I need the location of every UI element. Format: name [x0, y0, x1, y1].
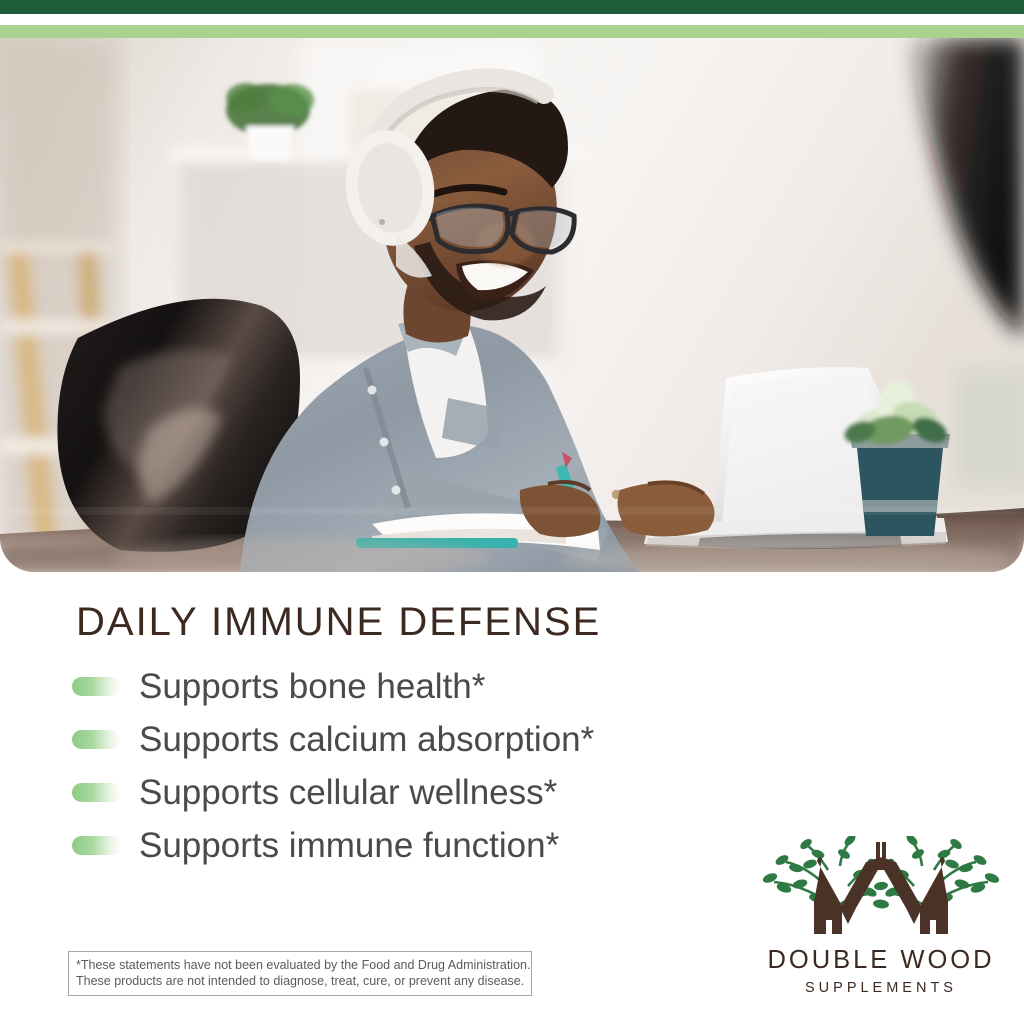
benefit-label: Supports immune function* — [139, 826, 559, 866]
disclaimer-line-1: *These statements have not been evaluate… — [76, 957, 524, 973]
list-item: Supports bone health* — [72, 660, 772, 713]
list-item: Supports calcium absorption* — [72, 713, 772, 766]
fda-disclaimer-box: *These statements have not been evaluate… — [68, 951, 532, 996]
disclaimer-line-2: These products are not intended to diagn… — [76, 973, 524, 989]
benefit-label: Supports bone health* — [139, 667, 485, 707]
list-item: Supports cellular wellness* — [72, 766, 772, 819]
bullet-pill-icon — [72, 730, 121, 749]
brand-subtitle: SUPPLEMENTS — [756, 980, 1006, 996]
bullet-pill-icon — [72, 783, 121, 802]
top-accent-bar-dark — [0, 0, 1024, 14]
bullet-pill-icon — [72, 677, 121, 696]
brand-logo: DOUBLE WOOD SUPPLEMENTS — [756, 836, 1006, 996]
benefit-list: Supports bone health* Supports calcium a… — [72, 660, 772, 872]
hero-photo — [0, 38, 1024, 572]
benefit-label: Supports calcium absorption* — [139, 720, 594, 760]
list-item: Supports immune function* — [72, 819, 772, 872]
benefit-label: Supports cellular wellness* — [139, 773, 557, 813]
top-accent-bar-light — [0, 25, 1024, 38]
brand-name: DOUBLE WOOD — [756, 946, 1006, 975]
double-tree-logo-icon — [756, 836, 1006, 942]
bullet-pill-icon — [72, 836, 121, 855]
page-title: DAILY IMMUNE DEFENSE — [76, 600, 601, 645]
